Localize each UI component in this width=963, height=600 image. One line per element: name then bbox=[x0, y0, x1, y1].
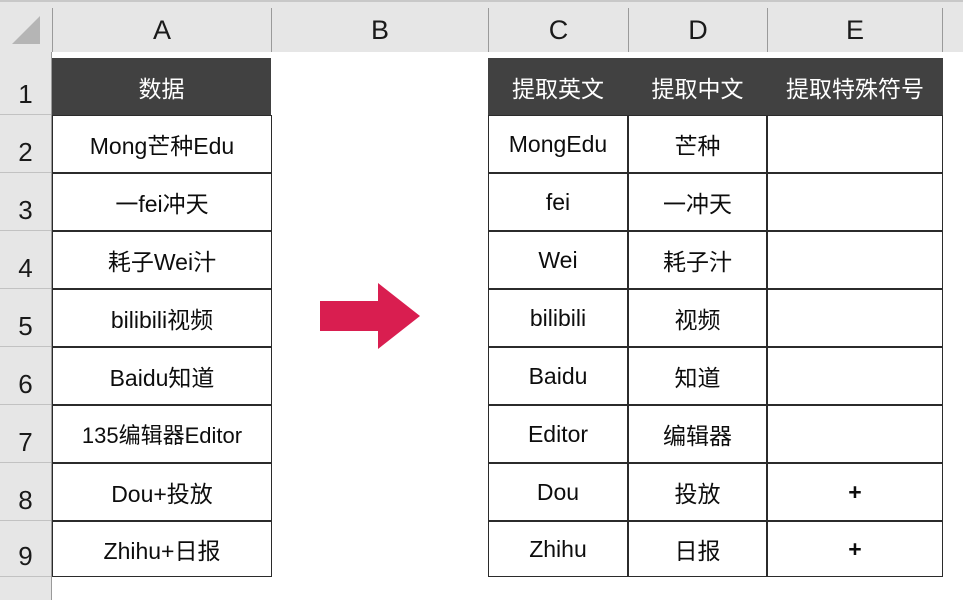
cell-d4[interactable]: 耗子汁 bbox=[628, 231, 767, 289]
cell-d6[interactable]: 知道 bbox=[628, 347, 767, 405]
column-header-e[interactable]: E bbox=[767, 8, 943, 52]
cell-c2[interactable]: MongEdu bbox=[488, 115, 628, 173]
cell-c1-header[interactable]: 提取英文 bbox=[488, 58, 628, 115]
column-header-d[interactable]: D bbox=[628, 8, 767, 52]
spreadsheet-grid: A B C D E 1 2 3 4 5 6 7 8 9 数据 提取英文 提取中文… bbox=[0, 0, 963, 600]
row-header-2[interactable]: 2 bbox=[0, 115, 51, 173]
cell-e9[interactable]: + bbox=[767, 521, 943, 577]
row-header-5[interactable]: 5 bbox=[0, 289, 51, 347]
cell-a5[interactable]: bilibili视频 bbox=[52, 289, 272, 347]
cell-d5[interactable]: 视频 bbox=[628, 289, 767, 347]
cell-a7[interactable]: 135编辑器Editor bbox=[52, 405, 272, 463]
cell-c9[interactable]: Zhihu bbox=[488, 521, 628, 577]
cell-a3[interactable]: 一fei冲天 bbox=[52, 173, 272, 231]
row-header-6[interactable]: 6 bbox=[0, 347, 51, 405]
cell-e5[interactable] bbox=[767, 289, 943, 347]
column-header-c[interactable]: C bbox=[488, 8, 628, 52]
cell-a2[interactable]: Mong芒种Edu bbox=[52, 115, 272, 173]
cell-a1-header[interactable]: 数据 bbox=[52, 58, 271, 115]
cell-c4[interactable]: Wei bbox=[488, 231, 628, 289]
row-header-8[interactable]: 8 bbox=[0, 463, 51, 521]
cell-e6[interactable] bbox=[767, 347, 943, 405]
cell-e1-header[interactable]: 提取特殊符号 bbox=[767, 58, 943, 115]
cell-d9[interactable]: 日报 bbox=[628, 521, 767, 577]
select-all-triangle-icon bbox=[12, 16, 40, 44]
cell-e8[interactable]: + bbox=[767, 463, 943, 521]
row-header-1[interactable]: 1 bbox=[0, 52, 51, 115]
cell-a9[interactable]: Zhihu+日报 bbox=[52, 521, 272, 577]
cell-c3[interactable]: fei bbox=[488, 173, 628, 231]
row-header-4[interactable]: 4 bbox=[0, 231, 51, 289]
cell-d1-header[interactable]: 提取中文 bbox=[628, 58, 767, 115]
cell-c5[interactable]: bilibili bbox=[488, 289, 628, 347]
cell-c6[interactable]: Baidu bbox=[488, 347, 628, 405]
cell-a8[interactable]: Dou+投放 bbox=[52, 463, 272, 521]
row-header-7[interactable]: 7 bbox=[0, 405, 51, 463]
cell-d2[interactable]: 芒种 bbox=[628, 115, 767, 173]
cell-e7[interactable] bbox=[767, 405, 943, 463]
right-arrow-icon bbox=[320, 283, 420, 349]
cell-c7[interactable]: Editor bbox=[488, 405, 628, 463]
cell-d7[interactable]: 编辑器 bbox=[628, 405, 767, 463]
cell-e2[interactable] bbox=[767, 115, 943, 173]
cell-d8[interactable]: 投放 bbox=[628, 463, 767, 521]
cell-e4[interactable] bbox=[767, 231, 943, 289]
row-header-3[interactable]: 3 bbox=[0, 173, 51, 231]
cell-e3[interactable] bbox=[767, 173, 943, 231]
cell-c8[interactable]: Dou bbox=[488, 463, 628, 521]
select-all-corner[interactable] bbox=[0, 2, 52, 52]
cell-a4[interactable]: 耗子Wei汁 bbox=[52, 231, 272, 289]
cell-d3[interactable]: 一冲天 bbox=[628, 173, 767, 231]
row-header-9[interactable]: 9 bbox=[0, 521, 51, 577]
column-header-b[interactable]: B bbox=[271, 8, 488, 52]
cell-a6[interactable]: Baidu知道 bbox=[52, 347, 272, 405]
column-header-a[interactable]: A bbox=[52, 8, 271, 52]
